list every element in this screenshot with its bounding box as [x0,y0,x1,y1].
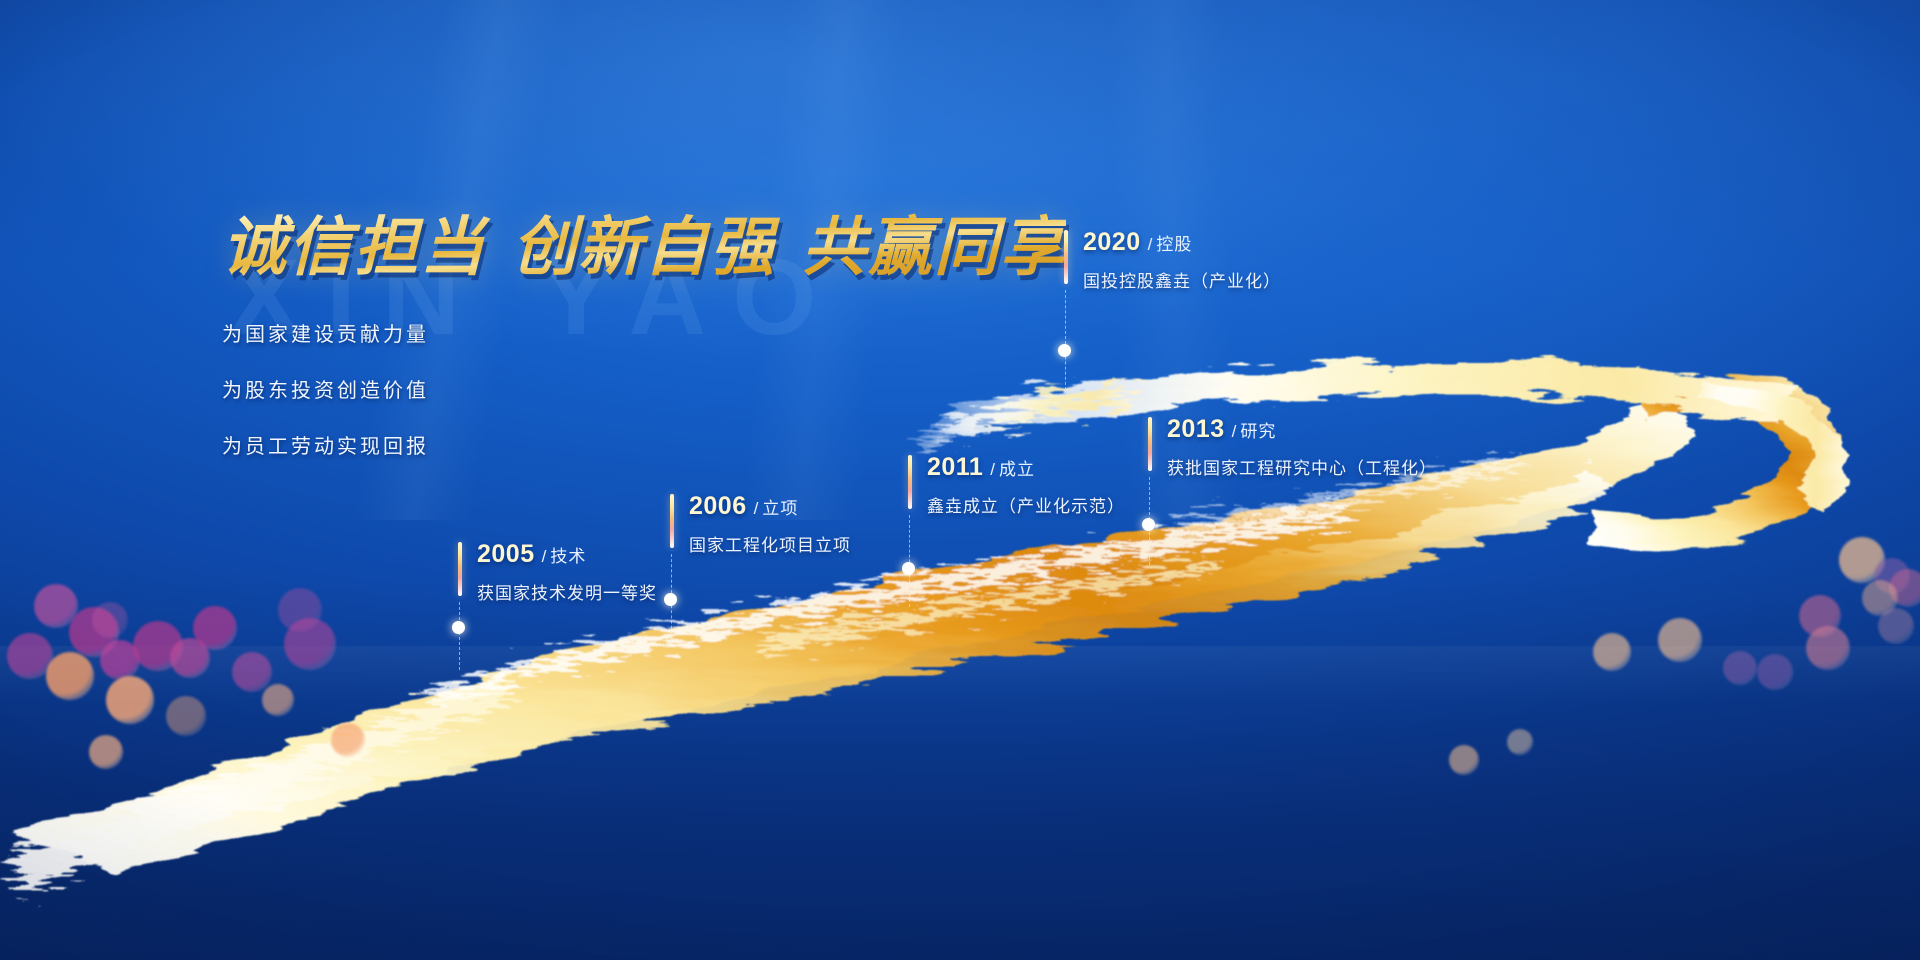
milestone-body: 2013/研究获批国家工程研究中心（工程化） [1167,415,1437,479]
milestone-accent-bar [458,542,462,596]
bokeh-circle [1757,654,1793,690]
milestone-body: 2020/控股国投控股鑫垚（产业化） [1083,228,1281,292]
milestone-tag: 研究 [1240,422,1276,441]
milestone-description: 鑫垚成立（产业化示范） [927,492,1125,517]
title-part-1: 诚信担当 [222,210,486,285]
bokeh-circle [1593,633,1631,671]
bokeh-circle [1799,595,1841,637]
bokeh-circle [166,696,206,736]
milestone-year-row: 2005/技术 [477,540,657,569]
headline-block: XIN YAO 诚信担当创新自强共赢同享 为国家建设贡献力量 为股东投资创造价值… [222,196,1066,459]
milestone-dot-marker[interactable] [902,562,915,575]
bokeh-circle [1874,558,1910,594]
milestone-dot-marker[interactable] [1058,344,1071,357]
bokeh-circle [1507,729,1533,755]
milestone-dot-marker[interactable] [664,593,677,606]
bokeh-circle [106,676,154,724]
bokeh-circle [170,638,210,678]
milestone-year: 2013 [1167,415,1225,443]
bokeh-circle [1723,651,1757,685]
bokeh-circle [331,723,365,757]
milestone-connector-line [1065,290,1066,390]
bokeh-circle [1449,745,1479,775]
milestone-description: 国投控股鑫垚（产业化） [1083,267,1281,292]
milestone-separator: / [990,460,996,479]
milestone-year: 2011 [927,453,983,481]
bokeh-circle [46,652,94,700]
milestone-separator: / [1148,235,1154,254]
milestone-description: 国家工程化项目立项 [689,531,851,556]
milestone-year: 2020 [1083,228,1141,256]
bokeh-circle [278,588,322,632]
milestone-body: 2006/立项国家工程化项目立项 [689,492,851,556]
milestone-dot-marker[interactable] [1142,518,1155,531]
bokeh-circle [1862,580,1898,616]
milestone-connector-line [909,515,910,607]
bokeh-circle [284,618,336,670]
milestone-year-row: 2011/成立 [927,453,1125,482]
milestone-accent-bar [1148,417,1152,471]
milestone-tag: 技术 [550,547,586,566]
milestone-body: 2005/技术获国家技术发明一等奖 [477,540,657,604]
milestone-body: 2011/成立鑫垚成立（产业化示范） [927,453,1125,517]
milestone-dot-marker[interactable] [452,621,465,634]
background-horizon-band [0,646,1920,960]
milestone-tag: 成立 [999,460,1035,479]
bokeh-circle [193,606,237,650]
bokeh-circle [1658,618,1702,662]
milestone-accent-bar [670,494,674,548]
bokeh-circle [89,735,123,769]
bokeh-circle [262,684,294,716]
banner-canvas: XIN YAO 诚信担当创新自强共赢同享 为国家建设贡献力量 为股东投资创造价值… [0,0,1920,960]
bokeh-circle [92,602,128,638]
subtitle-line: 为国家建设贡献力量 [222,318,1066,347]
milestone-separator: / [1232,422,1238,441]
bokeh-circle [1839,537,1885,583]
bokeh-circle [34,584,78,628]
bokeh-circle [69,607,119,657]
milestone-accent-bar [1064,230,1068,284]
milestone-separator: / [754,499,760,518]
milestone-year: 2005 [477,540,535,568]
bokeh-circle [7,633,53,679]
title-part-2: 创新自强 [512,210,776,285]
milestone-separator: / [542,547,548,566]
bokeh-circle [1889,569,1920,607]
milestone-year: 2006 [689,492,747,520]
milestone-year-row: 2020/控股 [1083,228,1281,257]
bokeh-circle [1806,626,1850,670]
milestone-description: 获批国家工程研究中心（工程化） [1167,454,1437,479]
bokeh-circle [133,621,183,671]
milestone-year-row: 2006/立项 [689,492,851,521]
milestone-year-row: 2013/研究 [1167,415,1437,444]
milestone-description: 获国家技术发明一等奖 [477,579,657,604]
bokeh-circle [100,640,140,680]
bokeh-circle [1878,608,1914,644]
subtitle-line: 为股东投资创造价值 [222,374,1066,403]
subtitle-list: 为国家建设贡献力量 为股东投资创造价值 为员工劳动实现回报 [222,318,1066,459]
milestone-tag: 立项 [762,499,798,518]
title-part-3: 共赢同享 [802,210,1066,285]
milestone-connector-line [459,602,460,670]
bokeh-circle [232,652,272,692]
page-title: 诚信担当创新自强共赢同享 [222,196,1066,288]
milestone-accent-bar [908,455,912,509]
milestone-tag: 控股 [1156,235,1192,254]
